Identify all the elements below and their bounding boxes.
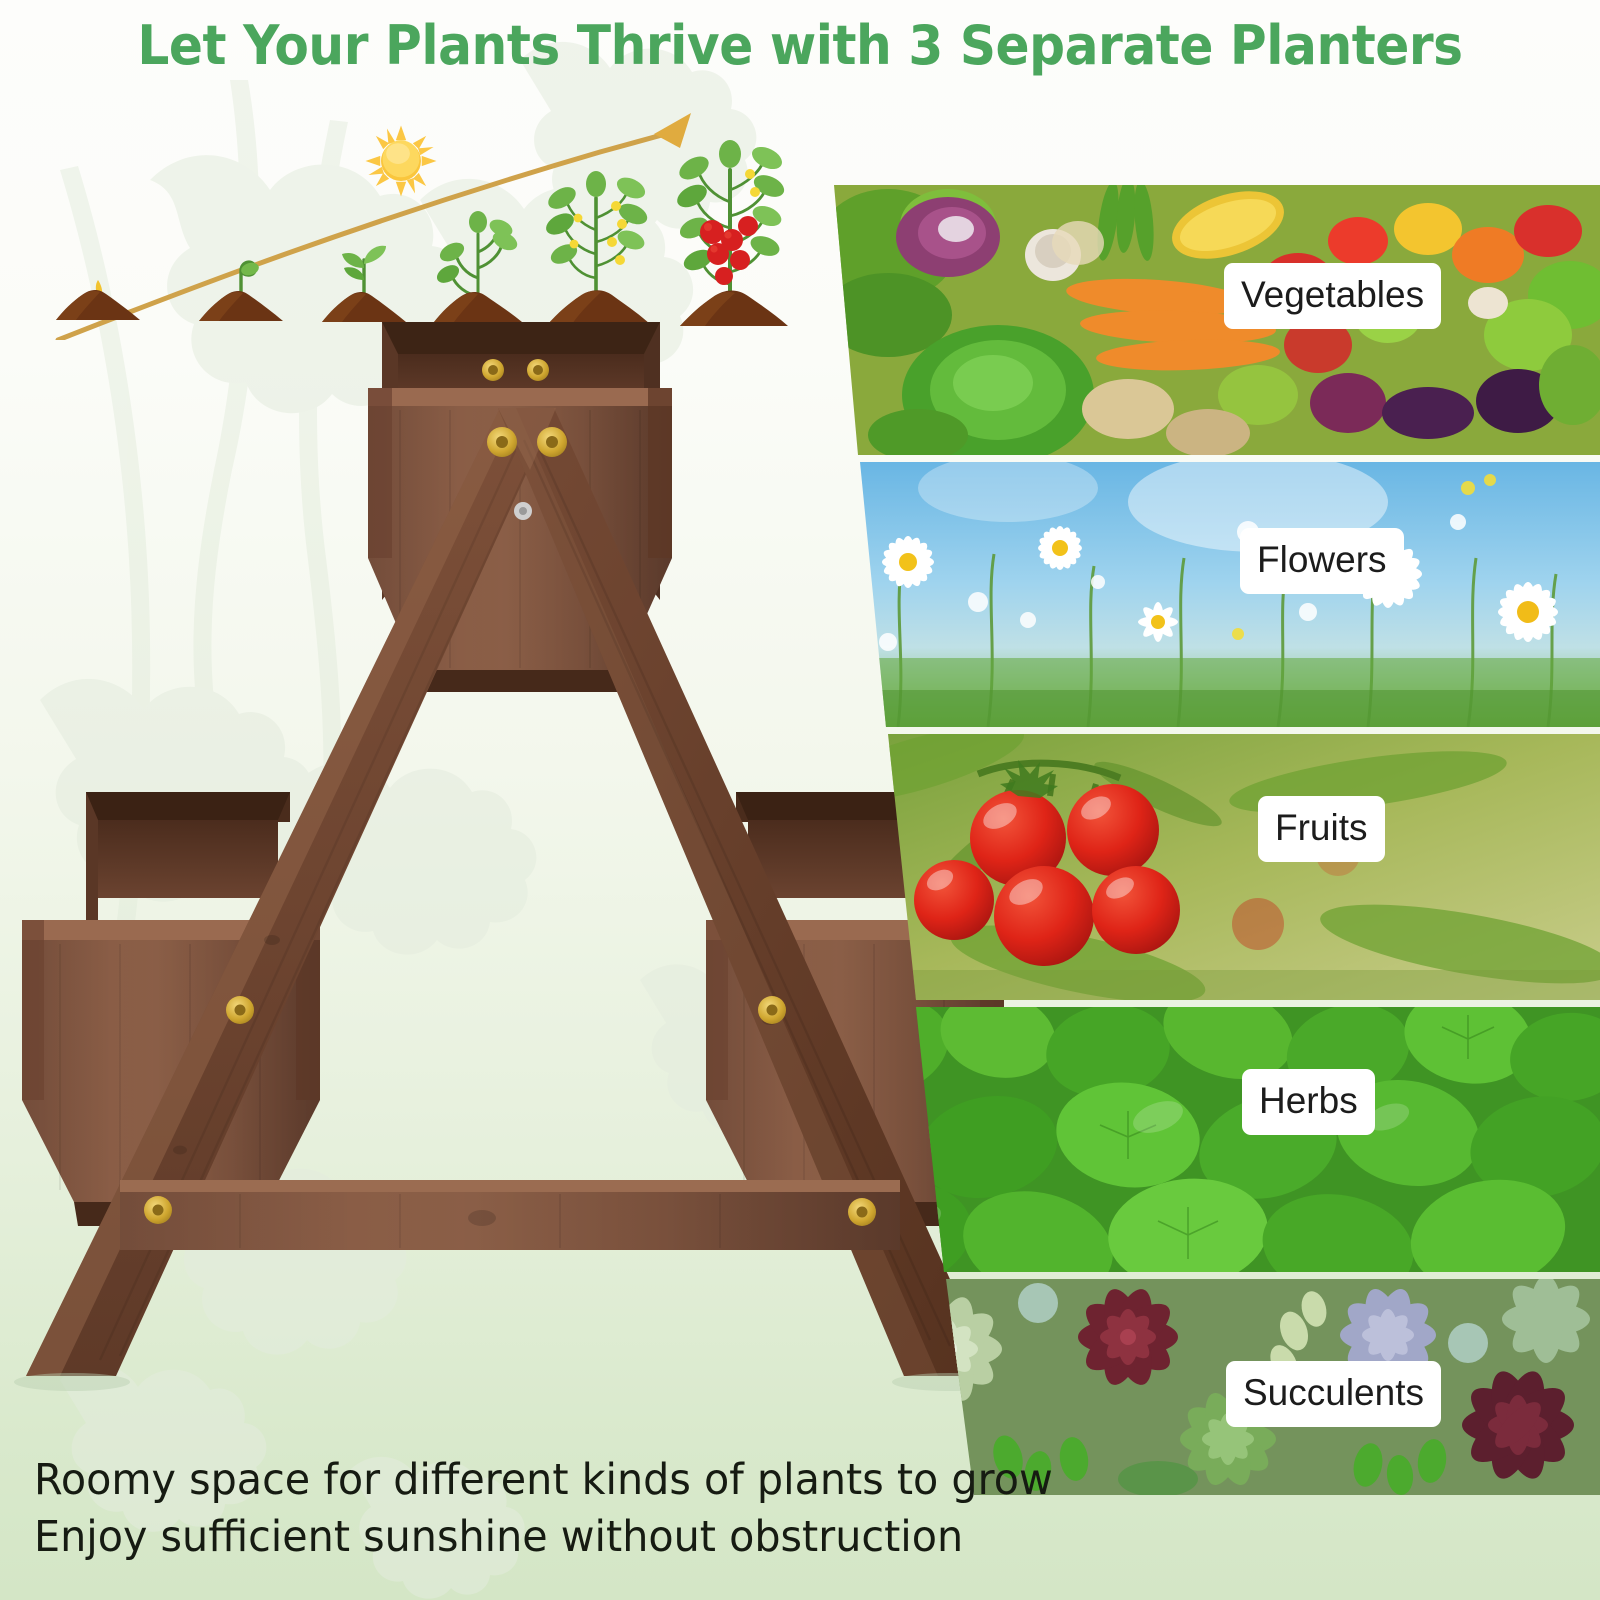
panel-vegetables[interactable]: Vegetables: [828, 185, 1600, 455]
feature-copy-line-1: Roomy space for different kinds of plant…: [34, 1452, 1071, 1509]
sun-icon: [364, 124, 438, 198]
vegetables-photo: [828, 185, 1600, 455]
flowers-photo: [828, 462, 1600, 727]
feature-copy: Roomy space for different kinds of plant…: [34, 1452, 1071, 1566]
panel-label-flowers: Flowers: [1240, 528, 1404, 594]
panel-label-fruits: Fruits: [1258, 796, 1385, 862]
panel-fruits[interactable]: Fruits: [828, 734, 1600, 1000]
panel-herbs[interactable]: Herbs: [828, 1007, 1600, 1272]
cross-brace: [120, 1180, 900, 1250]
panel-label-succulents: Succulents: [1226, 1361, 1441, 1427]
panel-label-vegetables: Vegetables: [1224, 263, 1441, 329]
panel-flowers[interactable]: Flowers: [828, 462, 1600, 727]
plant-category-panels: Vegetables: [828, 185, 1600, 1495]
marketing-image: Let Your Plants Thrive with 3 Separate P…: [0, 0, 1600, 1600]
fruits-photo: [828, 734, 1600, 1000]
feature-copy-line-2: Enjoy sufficient sunshine without obstru…: [34, 1509, 1071, 1566]
page-title: Let Your Plants Thrive with 3 Separate P…: [56, 14, 1544, 77]
herbs-photo: [828, 1007, 1600, 1272]
panel-label-herbs: Herbs: [1242, 1069, 1375, 1135]
